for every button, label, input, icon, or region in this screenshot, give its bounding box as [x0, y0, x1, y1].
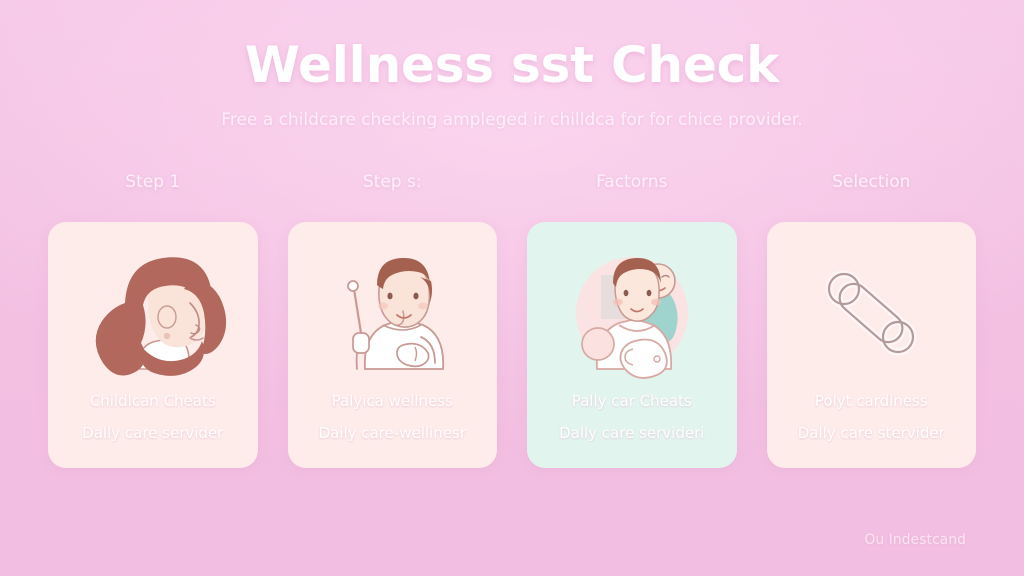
card-caption-3: Pally car Cheats Dally care servideri [527, 392, 737, 468]
card-subtitle-4: Dally care stervider [777, 424, 967, 442]
card-selection[interactable]: Polyt cardiness Dally care stervider [767, 222, 977, 468]
card-caption-1: Childlcan Cheats Dally care servider [48, 392, 258, 468]
card-title-3: Pally car Cheats [537, 392, 727, 410]
card-caption-4: Polyt cardiness Dally care stervider [767, 392, 977, 468]
family-group-icon [557, 241, 707, 381]
card-physical-wellness[interactable]: Palyica wellness Daily care-wellinesr [288, 222, 498, 468]
step-label-4: Selection [767, 172, 977, 192]
card-subtitle-2: Daily care-wellinesr [298, 424, 488, 442]
card-subtitle-1: Dally care servider [58, 424, 248, 442]
page-background: Wellness sst Check Free a childcare chec… [0, 0, 1024, 576]
step-label-2: Step s: [288, 172, 498, 192]
card-illustration-3 [527, 222, 737, 392]
card-illustration-1 [48, 222, 258, 392]
page-title: Wellness sst Check [0, 36, 1024, 94]
card-grid: Childlcan Cheats Dally care servider [48, 222, 976, 468]
card-family-care[interactable]: Pally car Cheats Dally care servideri [527, 222, 737, 468]
step-label-3: Factorns [527, 172, 737, 192]
card-title-2: Palyica wellness [298, 392, 488, 410]
woman-profile-portrait-icon [78, 241, 228, 381]
card-subtitle-3: Dally care servideri [537, 424, 727, 442]
footer-note: Ou Indestcand [864, 532, 966, 548]
step-label-row: Step 1 Step s: Factorns Selection [48, 172, 976, 192]
card-caption-2: Palyica wellness Daily care-wellinesr [288, 392, 498, 468]
connector-link-icon [796, 241, 946, 381]
card-title-1: Childlcan Cheats [58, 392, 248, 410]
card-childcare-checks[interactable]: Childlcan Cheats Dally care servider [48, 222, 258, 468]
person-holding-toothbrush-icon [317, 241, 467, 381]
card-illustration-2 [288, 222, 498, 392]
page-subtitle: Free a childcare checking ampleged ir ch… [0, 110, 1024, 130]
card-illustration-4 [767, 222, 977, 392]
card-title-4: Polyt cardiness [777, 392, 967, 410]
step-label-1: Step 1 [48, 172, 258, 192]
